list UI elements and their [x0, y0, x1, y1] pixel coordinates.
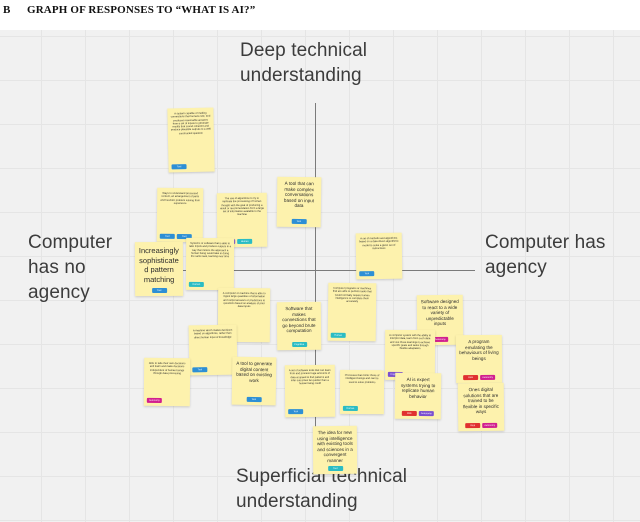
sticky-note-text: A machine which makes decisions based on… [192, 329, 234, 340]
sticky-note-text: A tool that can make complex conversatio… [280, 181, 318, 209]
sticky-note-text: A set of software tools that can learn f… [288, 369, 332, 386]
sticky-note-tags: RiskAutonomy [461, 421, 501, 428]
sticky-note[interactable]: A machine which makes decisions based on… [189, 325, 238, 376]
sticky-note-text: Increasingly sophisticated pattern match… [138, 246, 180, 284]
sticky-note[interactable]: The idea for new using intelligence with… [313, 426, 357, 474]
note-tag[interactable]: Tool [192, 367, 207, 372]
sticky-note-text: Software that makes connections that go … [280, 306, 318, 334]
sticky-note-text: Ways to understand processed content, an… [160, 192, 200, 206]
sticky-note[interactable]: A tool that can make complex conversatio… [277, 177, 322, 228]
sticky-note-tags: Human [343, 404, 381, 411]
sticky-note-text: AI is expert systems trying to replicate… [398, 377, 438, 400]
sticky-note-text: The idea for new using intelligence with… [316, 430, 354, 464]
sticky-note[interactable]: Able to take their own decisions and lea… [144, 358, 190, 406]
note-tag[interactable]: Tool [328, 466, 343, 471]
note-tag[interactable]: Autonomy [480, 375, 495, 380]
note-tag[interactable]: Risk [402, 411, 417, 416]
sticky-note-text: A set of methods and algorithms based on… [359, 237, 399, 251]
sticky-note[interactable]: AI is expert systems trying to replicate… [395, 373, 441, 419]
sticky-note-text: A system capable of making connections t… [170, 112, 210, 136]
axis-label-left: Computer has no agency [28, 230, 148, 305]
sticky-note[interactable]: Processes that mimic those of intelligen… [340, 370, 384, 414]
note-tag[interactable]: Tool [359, 271, 374, 276]
note-tag[interactable]: Risk [465, 423, 480, 428]
sticky-note-tags: RiskAutonomy [398, 409, 438, 416]
sticky-note[interactable]: A set of software tools that can learn f… [285, 365, 335, 417]
sticky-note-tags: Tool [192, 365, 234, 373]
note-tag[interactable]: Autonomy [147, 398, 162, 403]
sticky-note[interactable]: A set of methods and algorithms based on… [356, 233, 403, 280]
sticky-note-tags: Cognitive [280, 340, 318, 347]
sticky-note[interactable]: Ways to understand processed content, an… [157, 188, 204, 242]
sticky-note[interactable]: A program emulating the behaviours of li… [456, 335, 502, 383]
note-tag[interactable]: Human [237, 239, 252, 244]
sticky-note-tags: Tool [288, 407, 332, 414]
sticky-note-text: A computer system with the ability to in… [388, 334, 432, 351]
sticky-note-text: Ones digital solutions that are trained … [461, 387, 501, 415]
axis-label-top: Deep technical understanding [240, 38, 440, 88]
sticky-note-tags: Human [189, 280, 231, 287]
sticky-note[interactable]: A system capable of making connections t… [167, 108, 214, 173]
whiteboard-canvas[interactable]: Deep technical understanding Superficial… [0, 30, 640, 522]
note-tag[interactable]: Autonomy [482, 423, 497, 428]
document-header: B GRAPH OF RESPONSES TO “WHAT IS AI?” [0, 0, 640, 30]
sticky-note[interactable]: Computer programs or machines that are a… [328, 283, 377, 342]
sticky-note-tags: Autonomy [147, 396, 187, 403]
sticky-note[interactable]: Increasingly sophisticated pattern match… [135, 242, 183, 296]
sticky-note-text: A program emulating the behaviours of li… [459, 339, 499, 362]
note-tag[interactable]: Tool [152, 288, 167, 293]
sticky-note[interactable]: Software that makes connections that go … [277, 302, 321, 350]
section-letter: B [3, 4, 11, 16]
sticky-note-text: A computer or machine that is able to in… [221, 292, 267, 309]
note-tag[interactable]: Tool [291, 219, 306, 224]
sticky-note[interactable]: Systems or software that is able to take… [186, 238, 234, 290]
sticky-note-tags: Tool [138, 286, 180, 293]
sticky-note-tags: Tool [280, 217, 318, 225]
sticky-note[interactable]: A tool to generate digital content based… [232, 357, 277, 406]
sticky-note-text: A tool to generate digital content based… [235, 361, 273, 384]
page-title: GRAPH OF RESPONSES TO “WHAT IS AI?” [27, 4, 255, 16]
note-tag[interactable]: Autonomy [419, 411, 434, 416]
sticky-note-text: Computer programs or machines that are a… [331, 287, 373, 304]
note-tag[interactable]: Human [189, 282, 204, 287]
sticky-note-tags: Tool [235, 395, 273, 403]
sticky-note-text: Able to take their own decisions and lea… [147, 362, 187, 376]
sticky-note-text: The use of algorithms to try to replicat… [220, 197, 264, 217]
note-tag[interactable]: Risk [463, 375, 478, 380]
note-tag[interactable]: Tool [172, 164, 187, 169]
sticky-note-tags: Tool [316, 464, 354, 471]
sticky-note-text: Software designed to react to a wide var… [420, 299, 460, 327]
sticky-note[interactable]: Ones digital solutions that are trained … [458, 383, 505, 432]
sticky-note-tags: Human [331, 331, 373, 339]
sticky-note-tags: Tool [359, 269, 399, 277]
note-tag[interactable]: Human [331, 333, 346, 338]
note-tag[interactable]: Human [343, 406, 358, 411]
note-tag[interactable]: Cognitive [292, 342, 307, 347]
note-tag[interactable]: Tool [160, 234, 175, 239]
sticky-note-text: Systems or software that is able to take… [189, 242, 231, 259]
note-tag[interactable]: Tool [246, 397, 261, 402]
sticky-note-tags: RiskAutonomy [459, 373, 499, 380]
sticky-note-text: Processes that mimic those of intelligen… [343, 374, 381, 384]
axis-label-right: Computer has agency [485, 230, 625, 280]
note-tag[interactable]: Tool [288, 409, 303, 414]
sticky-note-tags: Tool [171, 162, 211, 170]
